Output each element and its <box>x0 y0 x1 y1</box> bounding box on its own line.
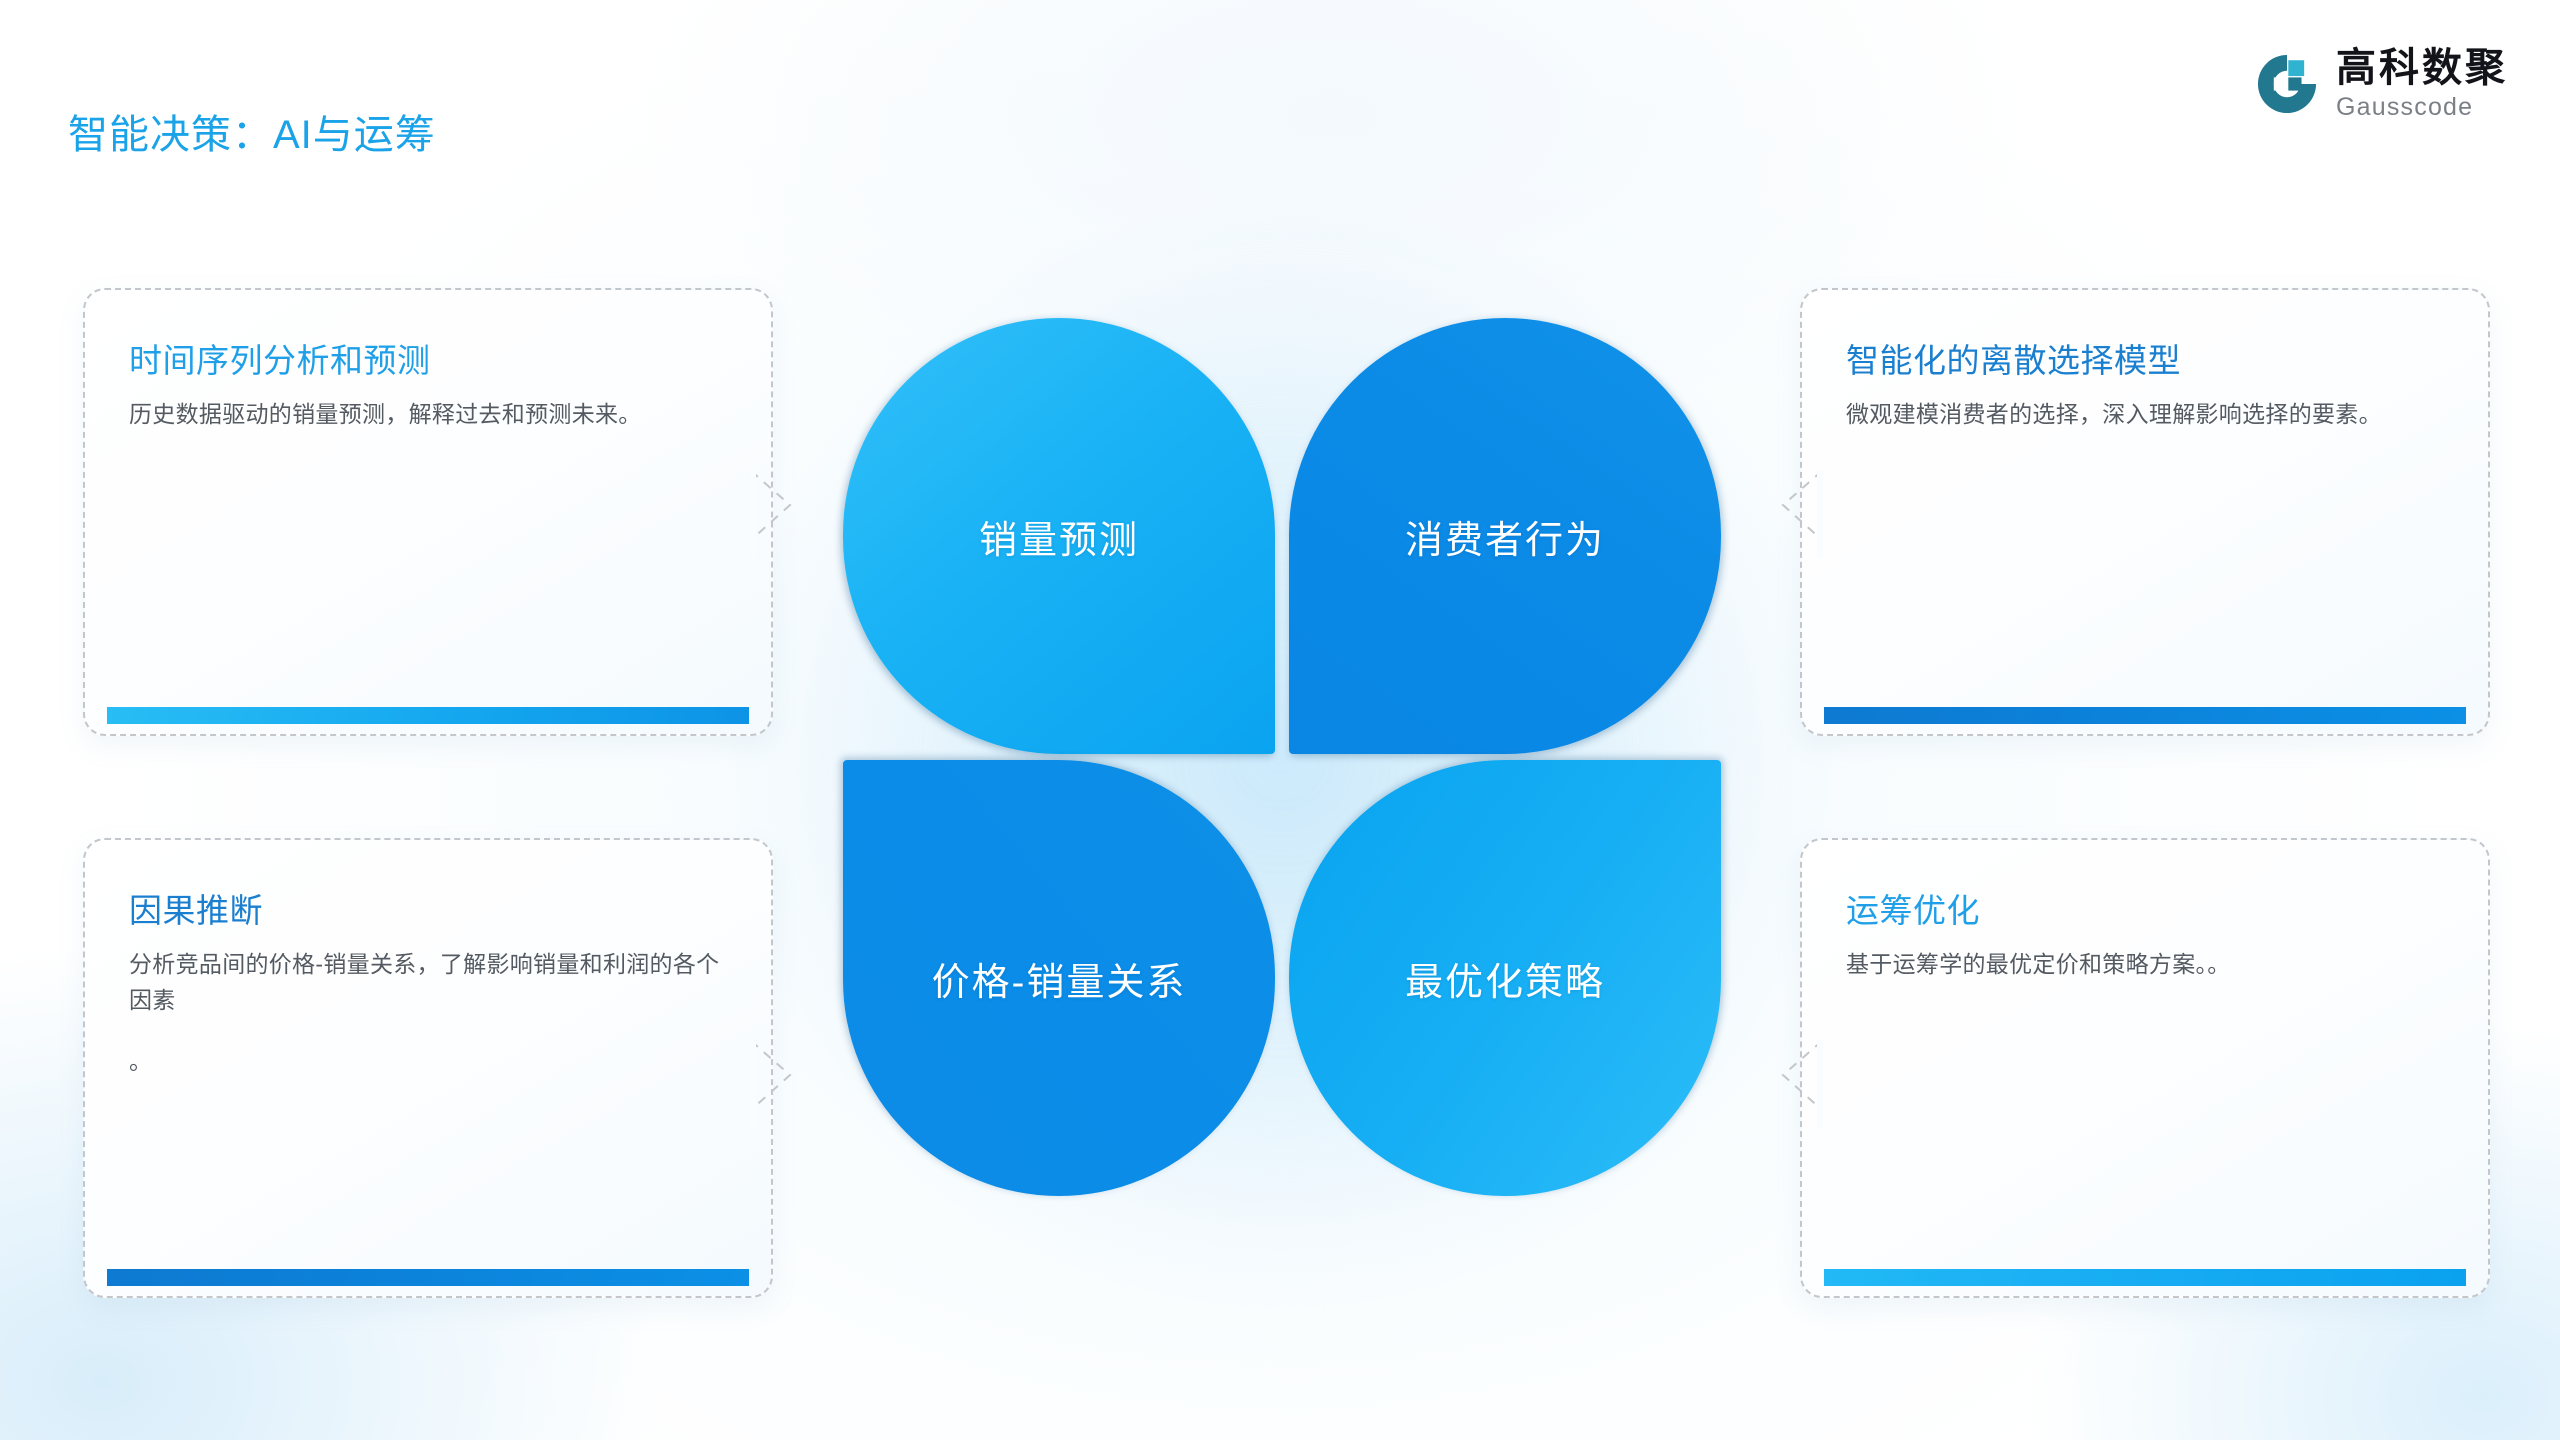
card-body-tail: 。 <box>129 1043 727 1079</box>
petal-sales-forecast[interactable]: 销量预测 <box>843 318 1275 754</box>
card-body-causal-inference: 分析竞品间的价格-销量关系，了解影响销量和利润的各个因素 。 <box>129 946 727 1079</box>
petal-label-optimal-strategy: 最优化策略 <box>1405 951 1605 1006</box>
petal-label-price-volume: 价格-销量关系 <box>932 951 1187 1006</box>
brand-logo: 高科数聚 Gausscode <box>2254 48 2508 120</box>
card-title-time-series: 时间序列分析和预测 <box>129 334 727 382</box>
flower-glow <box>733 208 1831 1306</box>
card-accent-bar-operations-research <box>1824 1269 2466 1286</box>
card-body-main: 分析竞品间的价格-销量关系，了解影响销量和利润的各个因素 <box>129 951 719 1013</box>
logo-name-en: Gausscode <box>2336 95 2508 120</box>
petal-label-sales-forecast: 销量预测 <box>979 509 1139 564</box>
card-title-causal-inference: 因果推断 <box>129 884 727 932</box>
flower-diagram: 销量预测 消费者行为 价格-销量关系 最优化策略 <box>843 318 1721 1196</box>
page-title: 智能决策：AI与运筹 <box>68 102 436 160</box>
card-title-discrete-choice: 智能化的离散选择模型 <box>1846 334 2444 382</box>
petal-price-volume[interactable]: 价格-销量关系 <box>843 760 1275 1196</box>
card-discrete-choice[interactable]: 智能化的离散选择模型 微观建模消费者的选择，深入理解影响选择的要素。 <box>1800 288 2490 736</box>
logo-name-cn: 高科数聚 <box>2336 48 2508 88</box>
petal-label-consumer-behavior: 消费者行为 <box>1405 509 1605 564</box>
card-body-discrete-choice: 微观建模消费者的选择，深入理解影响选择的要素。 <box>1846 396 2444 432</box>
card-body-operations-research: 基于运筹学的最优定价和策略方案。。 <box>1846 946 2444 982</box>
slide-canvas: 智能决策：AI与运筹 高科数聚 Gausscode 销量预测 消费者行为 价格-… <box>0 0 2560 1440</box>
card-operations-research[interactable]: 运筹优化 基于运筹学的最优定价和策略方案。。 <box>1800 838 2490 1298</box>
card-accent-bar-causal-inference <box>107 1269 749 1286</box>
petal-optimal-strategy[interactable]: 最优化策略 <box>1289 760 1721 1196</box>
card-title-operations-research: 运筹优化 <box>1846 884 2444 932</box>
petal-consumer-behavior[interactable]: 消费者行为 <box>1289 318 1721 754</box>
card-time-series[interactable]: 时间序列分析和预测 历史数据驱动的销量预测，解释过去和预测未来。 <box>83 288 773 736</box>
gausscode-g-mark-icon <box>2254 51 2320 117</box>
card-body-time-series: 历史数据驱动的销量预测，解释过去和预测未来。 <box>129 396 727 432</box>
logo-text: 高科数聚 Gausscode <box>2336 48 2508 120</box>
card-accent-bar-discrete-choice <box>1824 707 2466 724</box>
card-causal-inference[interactable]: 因果推断 分析竞品间的价格-销量关系，了解影响销量和利润的各个因素 。 <box>83 838 773 1298</box>
card-accent-bar-time-series <box>107 707 749 724</box>
